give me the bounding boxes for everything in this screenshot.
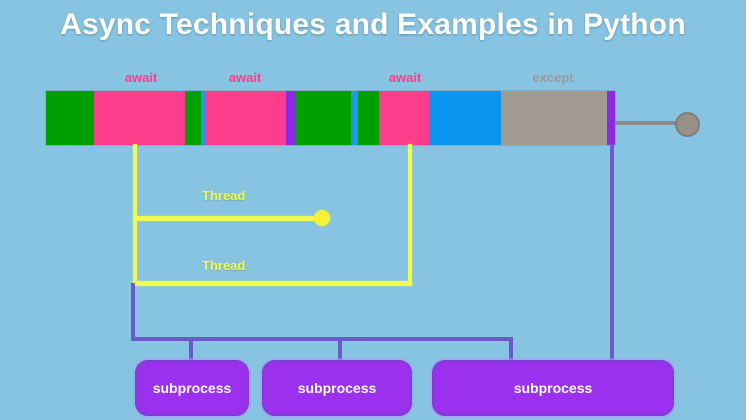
timeline-segment-thread-2 xyxy=(351,91,358,145)
subproc-tick-3 xyxy=(509,337,513,361)
timeline-segment-subproc-2 xyxy=(607,91,615,145)
await-label-4: except xyxy=(532,70,573,85)
subproc-drop-main xyxy=(131,283,135,340)
timeline-segment-await-2 xyxy=(206,91,286,145)
thread-bar-upper xyxy=(133,216,321,221)
thread-drop-right xyxy=(408,144,412,285)
timeline-segment-io-1 xyxy=(429,91,501,145)
timeline-segment-sync-2 xyxy=(185,91,201,145)
thread-label-2: Thread xyxy=(202,258,245,273)
timeline-segment-wait-1 xyxy=(501,91,607,145)
thread-drop-left xyxy=(133,144,137,285)
timeline-segment-subproc-1 xyxy=(286,91,296,145)
subprocess-label: subprocess xyxy=(298,380,377,396)
thread-bar-lower xyxy=(133,281,412,286)
await-label-3: await xyxy=(389,70,422,85)
timeline-segment-await-3 xyxy=(379,91,429,145)
subprocess-3[interactable]: subprocess xyxy=(432,360,674,416)
slide-canvas: Async Techniques and Examples in Python … xyxy=(0,0,746,420)
await-label-2: await xyxy=(229,70,262,85)
timeline-segment-sync-4 xyxy=(358,91,379,145)
timeline-segment-sync-3 xyxy=(296,91,351,145)
thread-label-1: Thread xyxy=(202,188,245,203)
subproc-tick-1 xyxy=(189,337,193,361)
subproc-tick-2 xyxy=(338,337,342,361)
execution-timeline xyxy=(46,91,615,145)
tail-endpoint-dot xyxy=(675,112,700,137)
subprocess-label: subprocess xyxy=(514,380,593,396)
timeline-segment-sync-1 xyxy=(46,91,94,145)
subprocess-2[interactable]: subprocess xyxy=(262,360,412,416)
tail-connector-line xyxy=(615,121,678,125)
timeline-segment-await-1 xyxy=(94,91,185,145)
subprocess-label: subprocess xyxy=(153,380,232,396)
page-title: Async Techniques and Examples in Python xyxy=(0,0,746,56)
subproc-drop-far xyxy=(610,144,614,361)
await-label-1: await xyxy=(125,70,158,85)
thread-endpoint-dot xyxy=(314,210,330,226)
subprocess-1[interactable]: subprocess xyxy=(135,360,249,416)
